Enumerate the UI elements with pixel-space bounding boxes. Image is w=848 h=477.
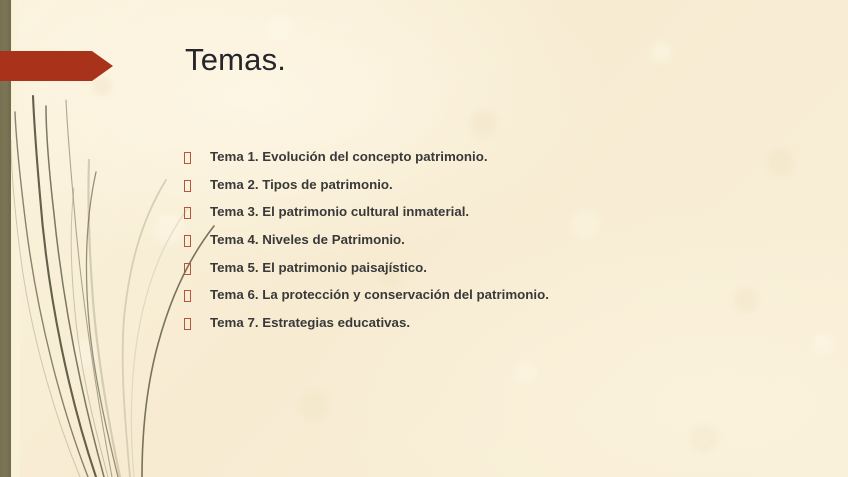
arrow-banner (0, 51, 113, 81)
tofu-box-bullet-icon (184, 318, 191, 330)
arrow-shape (0, 51, 113, 81)
tofu-box-bullet-icon (184, 207, 191, 219)
tofu-box-bullet-icon (184, 180, 191, 192)
topic-list: Tema 1. Evolución del concepto patrimoni… (184, 149, 804, 343)
list-item[interactable]: Tema 7. Estrategias educativas. (184, 315, 804, 343)
list-item[interactable]: Tema 3. El patrimonio cultural inmateria… (184, 204, 804, 232)
tofu-box-bullet-icon (184, 290, 191, 302)
page-title: Temas. (185, 43, 286, 77)
list-item[interactable]: Tema 4. Niveles de Patrimonio. (184, 232, 804, 260)
presentation-slide: Temas. Tema 1. Evolución del concepto pa… (0, 0, 848, 477)
list-item-label: Tema 6. La protección y conservación del… (210, 287, 804, 303)
tofu-box-bullet-icon (184, 152, 191, 164)
list-item-label: Tema 7. Estrategias educativas. (210, 315, 804, 331)
list-item[interactable]: Tema 5. El patrimonio paisajístico. (184, 260, 804, 288)
list-item-label: Tema 5. El patrimonio paisajístico. (210, 260, 804, 276)
list-item[interactable]: Tema 2. Tipos de patrimonio. (184, 177, 804, 205)
list-item-label: Tema 1. Evolución del concepto patrimoni… (210, 149, 804, 165)
list-item-label: Tema 3. El patrimonio cultural inmateria… (210, 204, 804, 220)
list-item-label: Tema 4. Niveles de Patrimonio. (210, 232, 804, 248)
tofu-box-bullet-icon (184, 235, 191, 247)
list-item-label: Tema 2. Tipos de patrimonio. (210, 177, 804, 193)
list-item[interactable]: Tema 6. La protección y conservación del… (184, 287, 804, 315)
tofu-box-bullet-icon (184, 263, 191, 275)
list-item[interactable]: Tema 1. Evolución del concepto patrimoni… (184, 149, 804, 177)
